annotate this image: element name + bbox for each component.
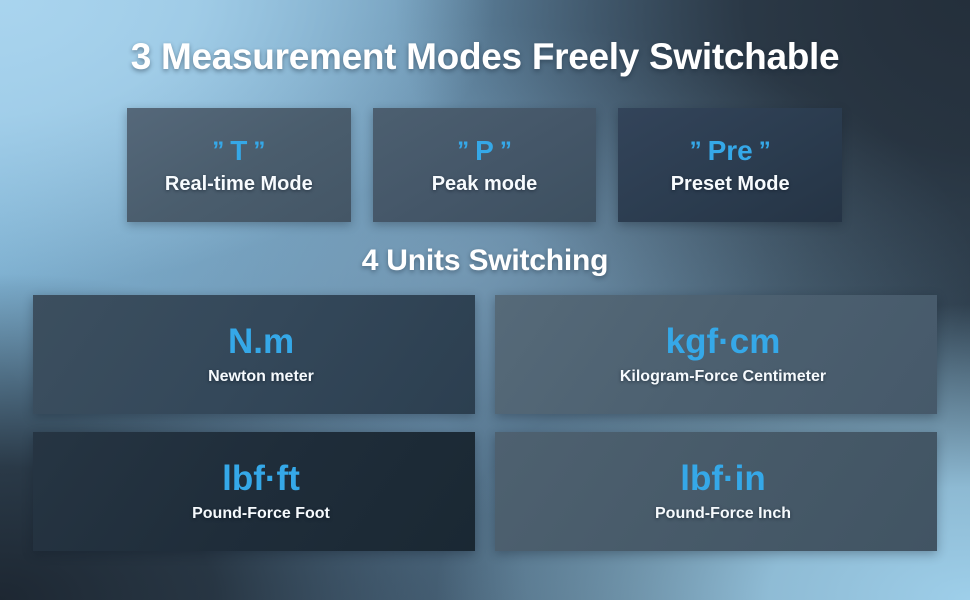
unit-symbol-lbf-in: lbf·in: [680, 460, 766, 499]
mode-symbol-preset: ”Pre”: [688, 136, 773, 165]
mode-label-peak: Peak mode: [432, 173, 538, 196]
unit-symbol-kgf-cm: kgf·cm: [666, 323, 781, 362]
mode-card-preset[interactable]: ”Pre” Preset Mode: [618, 108, 842, 222]
open-quote-glyph: ”: [210, 138, 226, 163]
close-quote-glyph: ”: [757, 138, 773, 163]
close-quote-glyph: ”: [498, 138, 514, 163]
mode-label-preset: Preset Mode: [671, 173, 790, 196]
unit-symbol-lbf-ft: lbf·ft: [222, 460, 300, 499]
unit-label-lbf-ft: Pound-Force Foot: [192, 505, 330, 523]
unit-card-newton-meter[interactable]: N.m Newton meter: [33, 295, 475, 414]
unit-label-lbf-in: Pound-Force Inch: [655, 505, 791, 523]
open-quote-glyph: ”: [688, 138, 704, 163]
mode-label-realtime: Real-time Mode: [165, 173, 313, 196]
unit-symbol-newton-meter: N.m: [228, 323, 294, 362]
mode-symbol-realtime: ”T”: [210, 136, 267, 165]
page-title: 3 Measurement Modes Freely Switchable: [0, 36, 970, 78]
unit-label-kgf-cm: Kilogram-Force Centimeter: [620, 368, 826, 386]
close-quote-glyph: ”: [251, 138, 267, 163]
mode-symbol-peak: ”P”: [455, 136, 514, 165]
unit-card-lbf-in[interactable]: lbf·in Pound-Force Inch: [495, 432, 937, 551]
promo-banner: 3 Measurement Modes Freely Switchable ”T…: [0, 0, 970, 600]
units-grid: N.m Newton meter kgf·cm Kilogram-Force C…: [33, 295, 937, 551]
mode-card-realtime[interactable]: ”T” Real-time Mode: [127, 108, 351, 222]
unit-card-lbf-ft[interactable]: lbf·ft Pound-Force Foot: [33, 432, 475, 551]
mode-symbol-core: Pre: [704, 135, 757, 166]
units-section-title: 4 Units Switching: [0, 244, 970, 278]
open-quote-glyph: ”: [455, 138, 471, 163]
measurement-modes-row: ”T” Real-time Mode ”P” Peak mode ”Pre” P…: [127, 108, 842, 222]
mode-symbol-core: T: [226, 135, 251, 166]
mode-symbol-core: P: [471, 135, 498, 166]
unit-card-kgf-cm[interactable]: kgf·cm Kilogram-Force Centimeter: [495, 295, 937, 414]
unit-label-newton-meter: Newton meter: [208, 368, 314, 386]
mode-card-peak[interactable]: ”P” Peak mode: [373, 108, 597, 222]
